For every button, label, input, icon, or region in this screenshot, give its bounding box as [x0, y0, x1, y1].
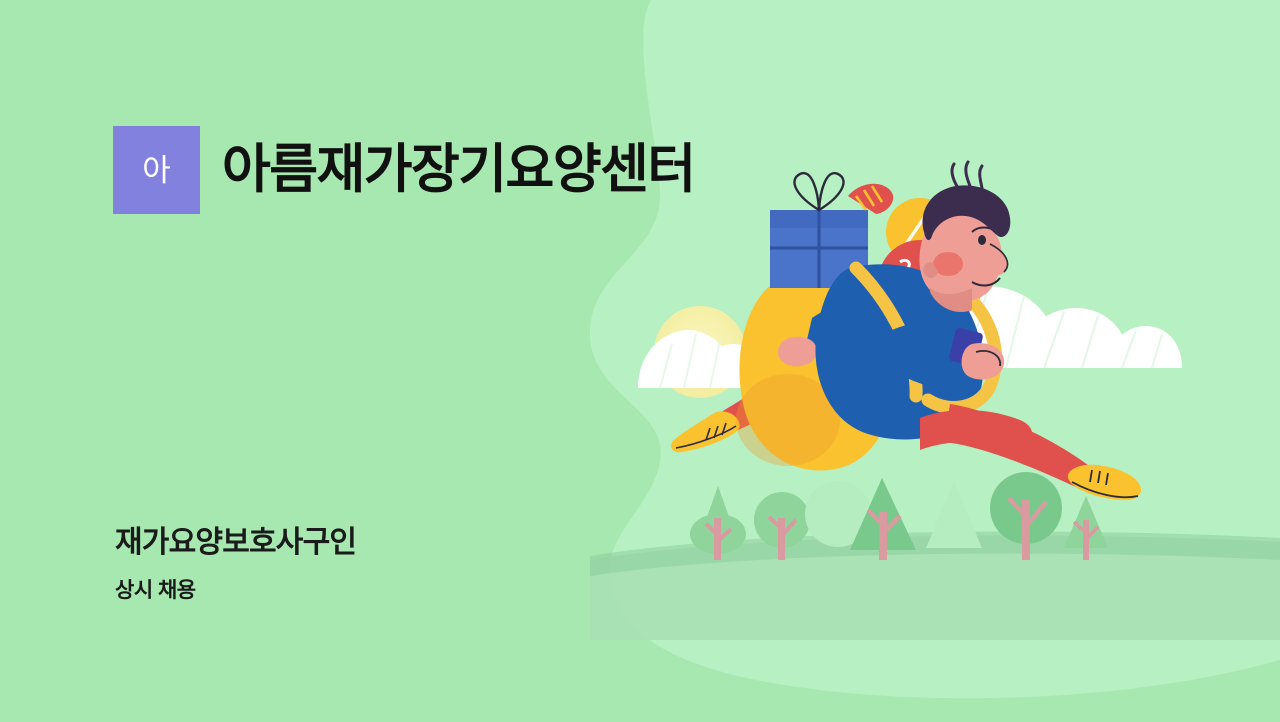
front-leg — [920, 404, 1101, 492]
tree-row — [690, 472, 1108, 560]
front-shoe — [1068, 465, 1141, 500]
tree — [754, 492, 810, 560]
tree — [850, 478, 916, 560]
back-shoe — [671, 411, 740, 452]
front-arm — [886, 323, 984, 388]
job-posting-card: 아 아름재가장기요양센터 재가요양보호사구인 상시 채용 — [0, 0, 1280, 722]
header: 아 아름재가장기요양센터 — [113, 126, 695, 214]
ground — [590, 532, 1280, 640]
org-initial-badge[interactable]: 아 — [113, 126, 200, 214]
striped-ball — [886, 198, 954, 266]
org-title: 아름재가장기요양센터 — [222, 142, 695, 198]
head — [919, 162, 1010, 312]
job-title: 재가요양보호사구인 — [115, 524, 356, 562]
back-hand — [778, 337, 817, 367]
tree — [805, 481, 871, 547]
illustration-blob-background — [590, 0, 1280, 698]
right-hills — [908, 286, 1182, 368]
gift-box — [770, 173, 868, 288]
running-character — [671, 162, 1141, 500]
left-hills — [638, 330, 774, 388]
tree — [926, 482, 982, 548]
tree — [690, 486, 746, 560]
right-hills-seams — [934, 288, 1162, 368]
sun — [654, 306, 746, 398]
back-arm — [806, 299, 913, 349]
org-initial-text: 아 — [142, 155, 171, 186]
left-hills-seams — [660, 334, 750, 388]
tree — [1064, 496, 1108, 560]
shoulder-strap — [856, 268, 995, 408]
cheek — [933, 252, 963, 276]
tree — [990, 472, 1062, 560]
dotted-ball — [878, 240, 984, 324]
job-summary: 재가요양보호사구인 상시 채용 — [115, 524, 356, 603]
gift-sack — [736, 268, 895, 471]
illustration-running-man-with-gift-sack — [520, 0, 1280, 722]
torso — [815, 264, 983, 439]
front-hand — [962, 343, 1005, 379]
striped-ribbon-item — [848, 184, 893, 214]
back-leg — [693, 338, 850, 443]
recruit-type-label: 상시 채용 — [115, 578, 356, 603]
